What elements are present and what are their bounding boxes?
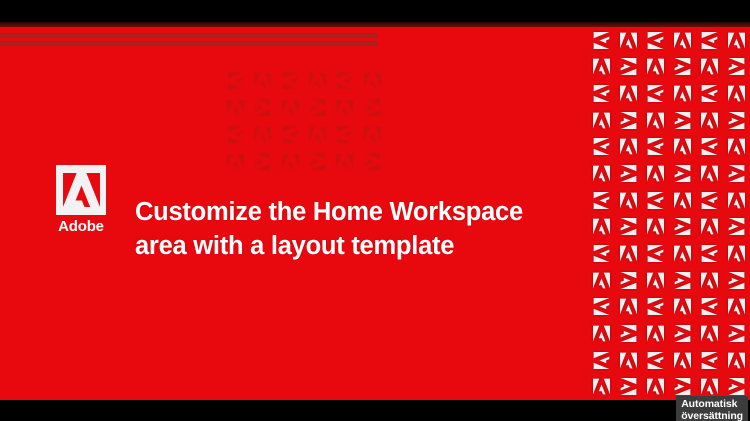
adobe-glyph-up-icon [696,213,723,240]
adobe-glyph-up-icon [615,80,642,107]
decorative-stripe-1 [0,33,378,38]
badge-line-2: översättning [681,410,743,421]
adobe-glyph-up-icon [723,293,750,320]
adobe-glyph-up-icon [669,27,696,54]
adobe-glyph-up-icon [615,347,642,374]
adobe-glyph-up-icon [615,134,642,161]
adobe-glyph-left-icon [696,347,723,374]
headline-line-2: area with a layout template [135,229,555,263]
adobe-glyph-pattern [588,27,750,400]
ghost-glyph-up-icon [249,67,276,94]
ghost-glyph-up-icon [331,148,358,175]
adobe-a-logo-icon [56,165,106,215]
video-frame: Adobe Customize the Home Workspace area … [0,0,750,421]
adobe-glyph-up-icon [615,27,642,54]
adobe-glyph-right-icon [723,267,750,294]
badge-line-1: Automatisk [681,398,743,410]
adobe-glyph-left-icon [696,80,723,107]
adobe-glyph-up-icon [588,373,615,400]
adobe-glyph-left-icon [696,240,723,267]
adobe-glyph-up-icon [588,320,615,347]
letterbox-top-fade [0,22,750,27]
ghost-glyph-right-icon [359,94,386,121]
adobe-glyph-right-icon [669,107,696,134]
adobe-glyph-right-icon [615,54,642,81]
adobe-glyph-right-icon [615,213,642,240]
adobe-glyph-up-icon [588,160,615,187]
adobe-glyph-up-icon [723,27,750,54]
ghost-glyph-right-icon [304,148,331,175]
decorative-stripe-2 [0,41,378,46]
adobe-glyph-up-icon [588,54,615,81]
adobe-glyph-up-icon [642,320,669,347]
adobe-glyph-up-icon [723,134,750,161]
adobe-glyph-up-icon [615,240,642,267]
ghost-glyph-up-icon [222,94,249,121]
ghost-glyph-right-icon [304,94,331,121]
ghost-glyph-up-icon [304,121,331,148]
adobe-wordmark: Adobe [58,219,104,236]
adobe-glyph-up-icon [669,134,696,161]
adobe-glyph-up-icon [696,54,723,81]
adobe-glyph-left-icon [642,187,669,214]
adobe-glyph-right-icon [723,213,750,240]
ghost-glyph-grid [222,67,386,175]
slide-headline: Customize the Home Workspace area with a… [135,195,555,263]
adobe-glyph-up-icon [669,347,696,374]
adobe-glyph-left-icon [588,347,615,374]
adobe-glyph-left-icon [696,293,723,320]
ghost-glyph-up-icon [359,67,386,94]
adobe-glyph-left-icon [588,134,615,161]
ghost-glyph-up-icon [249,121,276,148]
adobe-glyph-right-icon [669,54,696,81]
adobe-glyph-up-icon [588,267,615,294]
adobe-glyph-left-icon [696,187,723,214]
adobe-glyph-up-icon [642,373,669,400]
adobe-logo-lockup: Adobe [53,165,109,236]
ghost-glyph-left-icon [222,67,249,94]
ghost-glyph-up-icon [222,148,249,175]
adobe-glyph-up-icon [723,347,750,374]
adobe-glyph-up-icon [669,240,696,267]
ghost-glyph-up-icon [331,94,358,121]
adobe-glyph-right-icon [669,213,696,240]
adobe-glyph-left-icon [642,27,669,54]
adobe-glyph-left-icon [642,80,669,107]
ghost-glyph-left-icon [277,121,304,148]
adobe-glyph-up-icon [642,213,669,240]
adobe-glyph-right-icon [723,107,750,134]
auto-translation-badge: Automatisk översättning [676,396,748,421]
adobe-glyph-right-icon [669,320,696,347]
adobe-glyph-left-icon [642,347,669,374]
adobe-glyph-up-icon [696,160,723,187]
adobe-glyph-left-icon [588,27,615,54]
ghost-glyph-up-icon [277,94,304,121]
adobe-glyph-right-icon [723,54,750,81]
adobe-glyph-right-icon [615,107,642,134]
adobe-glyph-up-icon [588,213,615,240]
adobe-glyph-up-icon [669,187,696,214]
adobe-glyph-up-icon [723,240,750,267]
adobe-glyph-left-icon [642,240,669,267]
adobe-glyph-right-icon [723,320,750,347]
headline-line-1: Customize the Home Workspace [135,195,555,229]
adobe-glyph-up-icon [615,187,642,214]
adobe-glyph-up-icon [588,107,615,134]
ghost-glyph-left-icon [331,121,358,148]
adobe-glyph-up-icon [723,80,750,107]
adobe-glyph-up-icon [615,293,642,320]
adobe-glyph-left-icon [696,134,723,161]
adobe-glyph-left-icon [588,80,615,107]
adobe-glyph-up-icon [642,107,669,134]
ghost-glyph-left-icon [331,67,358,94]
adobe-glyph-right-icon [615,267,642,294]
ghost-glyph-right-icon [249,94,276,121]
adobe-glyph-right-icon [615,373,642,400]
adobe-glyph-up-icon [696,267,723,294]
adobe-glyph-left-icon [588,293,615,320]
adobe-glyph-right-icon [669,267,696,294]
ghost-glyph-left-icon [222,121,249,148]
adobe-glyph-right-icon [615,320,642,347]
adobe-glyph-right-icon [615,160,642,187]
letterbox-top [0,0,750,22]
ghost-glyph-up-icon [359,121,386,148]
ghost-glyph-right-icon [359,148,386,175]
adobe-glyph-up-icon [642,54,669,81]
adobe-glyph-left-icon [642,134,669,161]
adobe-glyph-up-icon [642,160,669,187]
adobe-glyph-left-icon [642,293,669,320]
adobe-glyph-up-icon [669,80,696,107]
ghost-glyph-right-icon [249,148,276,175]
adobe-glyph-left-icon [588,240,615,267]
adobe-glyph-right-icon [669,160,696,187]
adobe-glyph-up-icon [696,107,723,134]
ghost-glyph-left-icon [277,67,304,94]
slide-stage: Adobe Customize the Home Workspace area … [0,27,750,400]
ghost-glyph-up-icon [304,67,331,94]
ghost-glyph-up-icon [277,148,304,175]
adobe-glyph-right-icon [723,160,750,187]
adobe-glyph-up-icon [696,320,723,347]
adobe-glyph-up-icon [723,187,750,214]
adobe-glyph-up-icon [642,267,669,294]
letterbox-bottom [0,400,750,421]
adobe-glyph-up-icon [669,293,696,320]
adobe-glyph-left-icon [588,187,615,214]
adobe-glyph-left-icon [696,27,723,54]
